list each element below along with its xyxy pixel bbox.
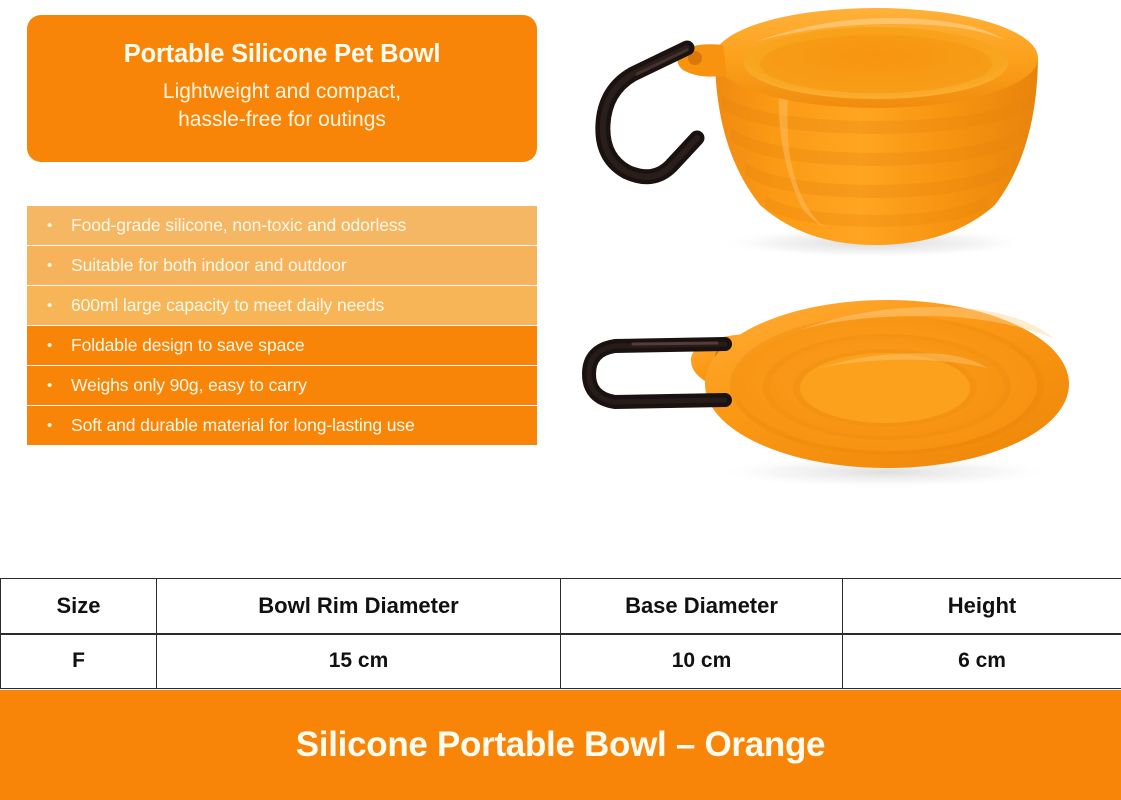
page-title: Portable Silicone Pet Bowl <box>124 40 440 69</box>
cell-rim: 15 cm <box>157 634 561 689</box>
headline-subtitle: Lightweight and compact, hassle-free for… <box>163 78 401 133</box>
list-item: • Food-grade silicone, non-toxic and odo… <box>27 206 537 245</box>
table-header-base: Base Diameter <box>561 579 843 634</box>
bullet-icon: • <box>43 378 71 393</box>
left-info-panel: Portable Silicone Pet Bowl Lightweight a… <box>0 0 570 560</box>
feature-list: • Food-grade silicone, non-toxic and odo… <box>27 206 537 445</box>
table-row: F 15 cm 10 cm 6 cm <box>1 634 1121 689</box>
list-item: • Foldable design to save space <box>27 326 537 365</box>
product-image-panel <box>570 0 1121 560</box>
table-header-height: Height <box>843 579 1121 634</box>
feature-label: Foldable design to save space <box>71 336 305 355</box>
table-header-size: Size <box>1 579 157 634</box>
cell-height: 6 cm <box>843 634 1121 689</box>
bullet-icon: • <box>43 218 71 233</box>
cell-size: F <box>1 634 157 689</box>
list-item: • 600ml large capacity to meet daily nee… <box>27 286 537 325</box>
cell-base: 10 cm <box>561 634 843 689</box>
banner-title: Silicone Portable Bowl – Orange <box>296 725 825 765</box>
table-header-rim: Bowl Rim Diameter <box>157 579 561 634</box>
feature-label: Suitable for both indoor and outdoor <box>71 256 347 275</box>
product-photo-expanded-bowl <box>575 0 1121 258</box>
feature-label: Weighs only 90g, easy to carry <box>71 376 307 395</box>
bottom-banner: Silicone Portable Bowl – Orange <box>0 690 1121 800</box>
list-item: • Soft and durable material for long-las… <box>27 406 537 445</box>
spec-table: Size Bowl Rim Diameter Base Diameter Hei… <box>0 578 1121 689</box>
bullet-icon: • <box>43 338 71 353</box>
collapsed-center <box>800 353 970 423</box>
headline-subtitle-line-1: Lightweight and compact, <box>163 78 401 105</box>
headline-subtitle-line-2: hassle-free for outings <box>163 106 401 133</box>
list-item: • Weighs only 90g, easy to carry <box>27 366 537 405</box>
bullet-icon: • <box>43 418 71 433</box>
list-item: • Suitable for both indoor and outdoor <box>27 246 537 285</box>
feature-label: Soft and durable material for long-lasti… <box>71 416 415 435</box>
table-header-row: Size Bowl Rim Diameter Base Diameter Hei… <box>1 579 1121 634</box>
feature-label: 600ml large capacity to meet daily needs <box>71 296 384 315</box>
product-photo-collapsed-bowl <box>575 272 1121 497</box>
bowl-interior-ring <box>760 35 992 93</box>
headline-card: Portable Silicone Pet Bowl Lightweight a… <box>27 15 537 162</box>
feature-label: Food-grade silicone, non-toxic and odorl… <box>71 216 406 235</box>
bullet-icon: • <box>43 258 71 273</box>
bullet-icon: • <box>43 298 71 313</box>
